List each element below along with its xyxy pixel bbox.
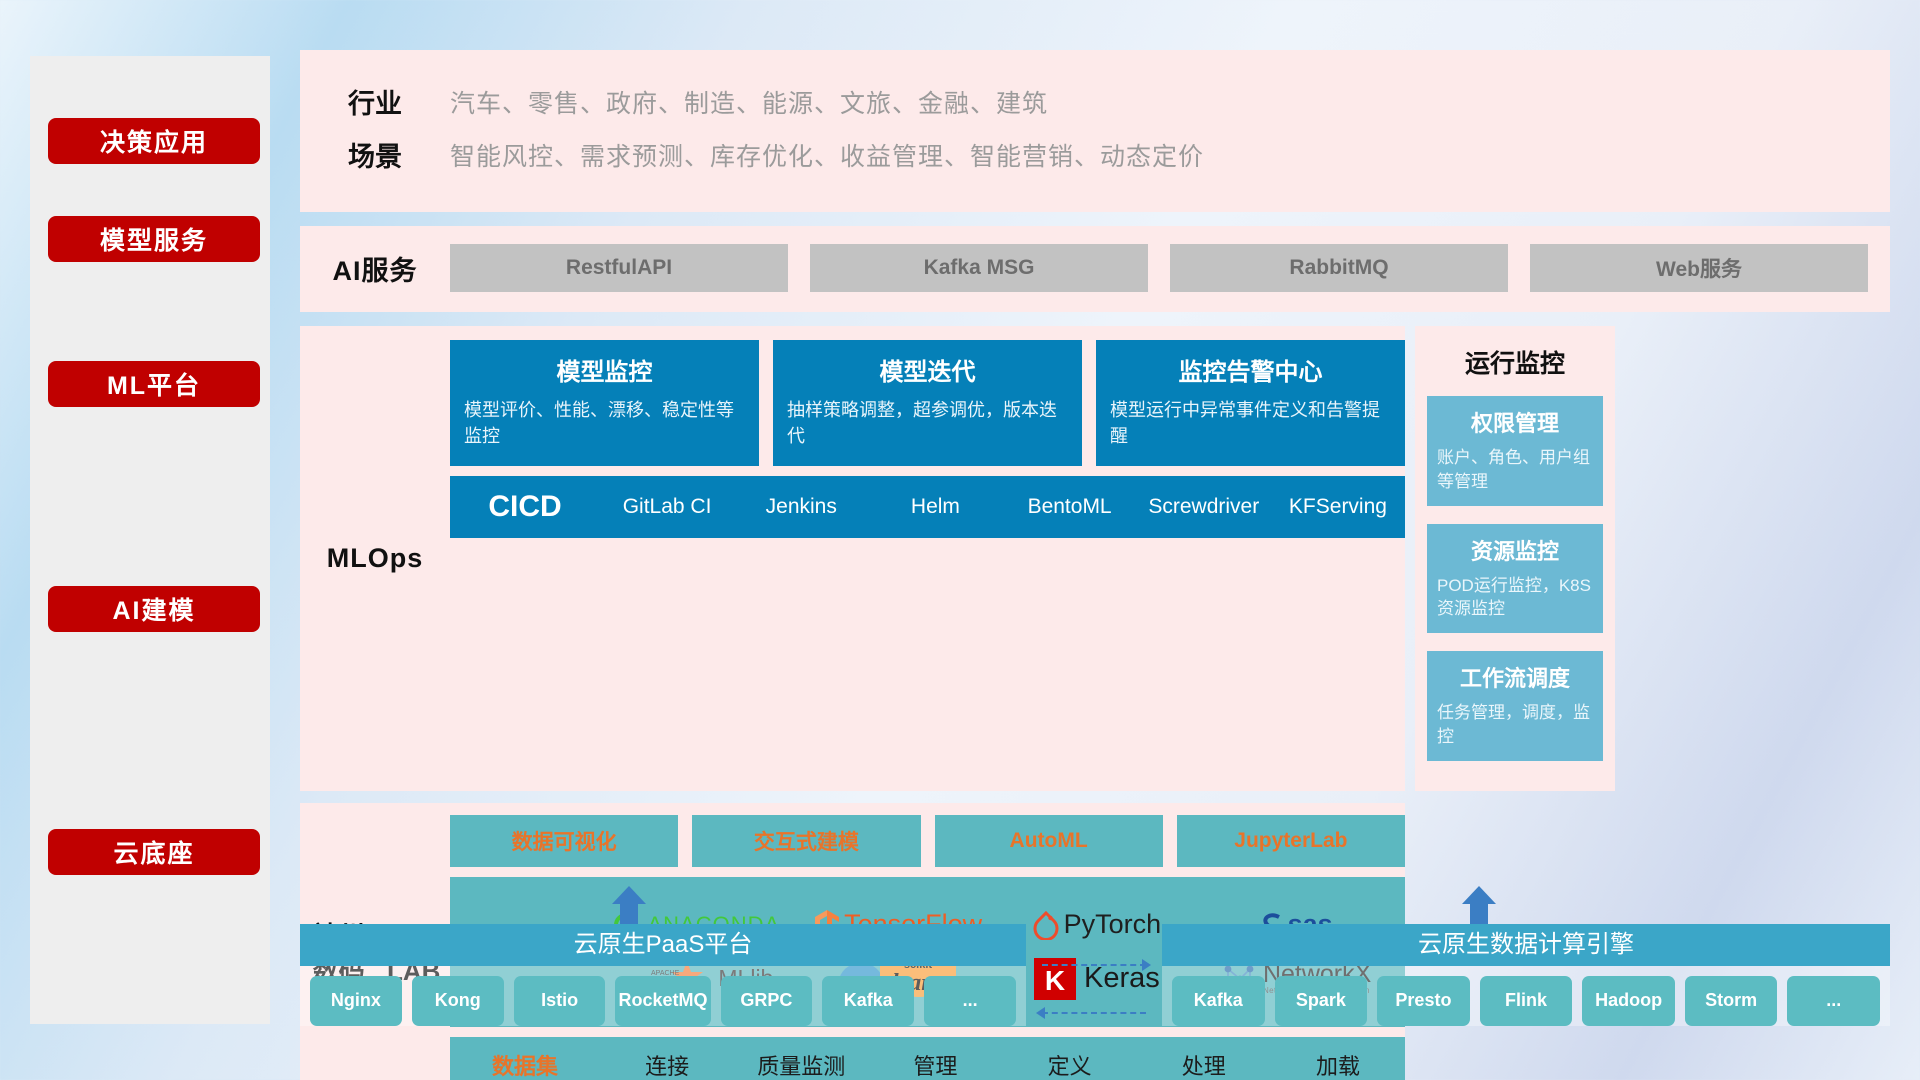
cicd-title: CICD xyxy=(450,490,600,524)
mlops-card-list: 模型监控 模型评价、性能、漂移、稳定性等监控 模型迭代 抽样策略调整，超参调优，… xyxy=(450,340,1405,466)
ml-lab-tool-jupyterlab[interactable]: JupyterLab xyxy=(1177,815,1405,867)
monitor-card-title: 权限管理 xyxy=(1437,406,1593,438)
cloud-native-data-engine-group: 云原生数据计算引擎 Kafka Spark Presto Flink Hadoo… xyxy=(1162,924,1890,1026)
cicd-item[interactable]: GitLab CI xyxy=(600,496,734,518)
monitor-card-permission[interactable]: 权限管理 账户、角色、用户组等管理 xyxy=(1427,396,1603,506)
paas-chip[interactable]: Kafka xyxy=(822,976,914,1026)
ai-service-chip[interactable]: RestfulAPI xyxy=(450,244,788,292)
scenario-row-value: 智能风控、需求预测、库存优化、收益管理、智能营销、动态定价 xyxy=(450,137,1204,173)
stage-label: 决策应用 xyxy=(100,123,208,159)
monitor-card-desc: 账户、角色、用户组等管理 xyxy=(1437,446,1593,494)
stage-pill-model-service[interactable]: 模型服务 xyxy=(48,216,260,262)
monitor-card-desc: 任务管理，调度，监控 xyxy=(1437,701,1593,749)
mlops-body: 模型监控 模型评价、性能、漂移、稳定性等监控 模型迭代 抽样策略调整，超参调优，… xyxy=(450,340,1405,777)
scenario-row: 场景 智能风控、需求预测、库存优化、收益管理、智能营销、动态定价 xyxy=(300,135,1890,174)
paas-chip[interactable]: GRPC xyxy=(721,976,813,1026)
ai-service-chip[interactable]: Kafka MSG xyxy=(810,244,1148,292)
cloud-native-paas-group: 云原生PaaS平台 Nginx Kong Istio RocketMQ GRPC… xyxy=(300,924,1026,1026)
stage-label: AI建模 xyxy=(112,591,195,627)
monitor-card-resource[interactable]: 资源监控 POD运行监控，K8S资源监控 xyxy=(1427,524,1603,634)
cloud-native-paas-title: 云原生PaaS平台 xyxy=(300,924,1026,966)
ml-lab-tool-automl[interactable]: AutoML xyxy=(935,815,1163,867)
paas-chip[interactable]: ... xyxy=(924,976,1016,1026)
stage-pill-ai-modeling[interactable]: AI建模 xyxy=(48,586,260,632)
monitor-card-workflow[interactable]: 工作流调度 任务管理，调度，监控 xyxy=(1427,651,1603,761)
mlops-card-desc: 模型运行中异常事件定义和告警提醒 xyxy=(1110,397,1391,449)
stage-label: 模型服务 xyxy=(100,221,208,257)
monitor-card-desc: POD运行监控，K8S资源监控 xyxy=(1437,574,1593,622)
cloud-native-paas-chip-list: Nginx Kong Istio RocketMQ GRPC Kafka ... xyxy=(300,966,1026,1026)
dashed-arrow-head-right-icon xyxy=(1142,959,1151,971)
ai-service-band: AI服务 RestfulAPI Kafka MSG RabbitMQ Web服务 xyxy=(300,226,1890,312)
engine-chip[interactable]: ... xyxy=(1787,976,1880,1026)
mlops-card-model-monitoring[interactable]: 模型监控 模型评价、性能、漂移、稳定性等监控 xyxy=(450,340,759,466)
paas-chip[interactable]: Kong xyxy=(412,976,504,1026)
cicd-item[interactable]: Screwdriver xyxy=(1137,496,1271,518)
stage-rail: 决策应用 模型服务 ML平台 AI建模 云底座 xyxy=(30,56,270,1024)
mlops-card-desc: 抽样策略调整，超参调优，版本迭代 xyxy=(787,397,1068,449)
engine-chip[interactable]: Storm xyxy=(1685,976,1778,1026)
mlops-card-title: 模型迭代 xyxy=(787,352,1068,387)
dashed-connector-right xyxy=(1042,964,1146,966)
engine-chip[interactable]: Kafka xyxy=(1172,976,1265,1026)
up-arrow-engine-icon xyxy=(1462,886,1496,926)
mlops-card-title: 模型监控 xyxy=(464,352,745,387)
stage-label: ML平台 xyxy=(107,366,201,402)
cicd-item[interactable]: Jenkins xyxy=(734,496,868,518)
ai-service-chip[interactable]: RabbitMQ xyxy=(1170,244,1508,292)
stage-pill-decision[interactable]: 决策应用 xyxy=(48,118,260,164)
ai-service-chip[interactable]: Web服务 xyxy=(1530,244,1868,292)
cloud-base-section: 云原生PaaS平台 Nginx Kong Istio RocketMQ GRPC… xyxy=(300,900,1890,1060)
engine-chip[interactable]: Presto xyxy=(1377,976,1470,1026)
mlops-card-title: 监控告警中心 xyxy=(1110,352,1391,387)
engine-chip[interactable]: Hadoop xyxy=(1582,976,1675,1026)
stage-pill-cloud-base[interactable]: 云底座 xyxy=(48,829,260,875)
cicd-bar: CICD GitLab CI Jenkins Helm BentoML Scre… xyxy=(450,476,1405,538)
cicd-item[interactable]: Helm xyxy=(868,496,1002,518)
paas-chip[interactable]: RocketMQ xyxy=(615,976,710,1026)
industry-row-key: 行业 xyxy=(300,82,450,121)
scenario-row-key: 场景 xyxy=(300,135,450,174)
industry-scenario-band: 行业 汽车、零售、政府、制造、能源、文旅、金融、建筑 场景 智能风控、需求预测、… xyxy=(300,50,1890,212)
engine-chip[interactable]: Flink xyxy=(1480,976,1573,1026)
cicd-item[interactable]: KFServing xyxy=(1271,496,1405,518)
ml-lab-tool-interactive[interactable]: 交互式建模 xyxy=(692,815,920,867)
ml-lab-tool-list: 数据可视化 交互式建模 AutoML JupyterLab xyxy=(450,815,1405,867)
paas-chip[interactable]: Nginx xyxy=(310,976,402,1026)
monitor-card-title: 工作流调度 xyxy=(1437,661,1593,693)
mlops-band: MLOps 模型监控 模型评价、性能、漂移、稳定性等监控 模型迭代 抽样策略调整… xyxy=(300,326,1890,791)
industry-row-value: 汽车、零售、政府、制造、能源、文旅、金融、建筑 xyxy=(450,84,1048,120)
ml-lab-tool-dataviz[interactable]: 数据可视化 xyxy=(450,815,678,867)
industry-row: 行业 汽车、零售、政府、制造、能源、文旅、金融、建筑 xyxy=(300,82,1890,121)
dashed-connector-left xyxy=(1042,1012,1146,1014)
paas-chip[interactable]: Istio xyxy=(514,976,606,1026)
mlops-label: MLOps xyxy=(300,340,450,777)
cloud-native-data-engine-title: 云原生数据计算引擎 xyxy=(1162,924,1890,966)
ai-service-label: AI服务 xyxy=(300,249,450,288)
engine-chip[interactable]: Spark xyxy=(1275,976,1368,1026)
cloud-native-data-engine-chip-list: Kafka Spark Presto Flink Hadoop Storm ..… xyxy=(1162,966,1890,1026)
dashed-arrow-head-left-icon xyxy=(1036,1007,1045,1019)
up-arrow-paas-icon xyxy=(612,886,646,926)
mlops-card-model-iteration[interactable]: 模型迭代 抽样策略调整，超参调优，版本迭代 xyxy=(773,340,1082,466)
runtime-monitor-panel: 运行监控 权限管理 账户、角色、用户组等管理 资源监控 POD运行监控，K8S资… xyxy=(1415,326,1615,791)
stage-pill-ml-platform[interactable]: ML平台 xyxy=(48,361,260,407)
stage-label: 云底座 xyxy=(113,834,194,870)
cicd-item[interactable]: BentoML xyxy=(1003,496,1137,518)
mlops-panel: MLOps 模型监控 模型评价、性能、漂移、稳定性等监控 模型迭代 抽样策略调整… xyxy=(300,326,1405,791)
monitor-card-title: 资源监控 xyxy=(1437,534,1593,566)
mlops-card-alert-center[interactable]: 监控告警中心 模型运行中异常事件定义和告警提醒 xyxy=(1096,340,1405,466)
runtime-monitor-title: 运行监控 xyxy=(1427,344,1603,380)
mlops-card-desc: 模型评价、性能、漂移、稳定性等监控 xyxy=(464,397,745,449)
ai-service-chip-list: RestfulAPI Kafka MSG RabbitMQ Web服务 xyxy=(450,244,1890,292)
